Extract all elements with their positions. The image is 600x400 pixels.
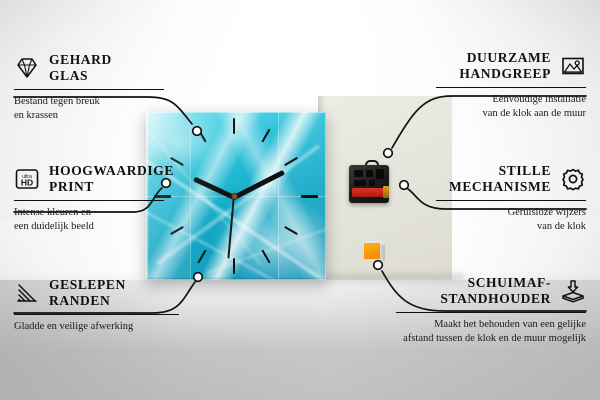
- svg-text:HD: HD: [21, 177, 33, 187]
- feature-title: STILLEMECHANISME: [449, 163, 551, 195]
- feature-header: SCHUIMAF-STANDHOUDER: [396, 275, 586, 307]
- feature-header: STILLEMECHANISME: [436, 163, 586, 195]
- feature-header: ultra HD HOOGWAARDIGEPRINT: [14, 163, 164, 195]
- feature-title: GESLEPENRANDEN: [49, 277, 126, 309]
- ultra-hd-icon: ultra HD: [14, 167, 40, 191]
- feature-divider: [14, 200, 164, 201]
- feature-description: Maakt het behouden van een gelijke afsta…: [396, 318, 586, 346]
- leader-dot-gehard-glas: [193, 127, 202, 136]
- feature-divider: [14, 314, 179, 315]
- feature-divider: [436, 87, 586, 88]
- feature-geslepen-randen[interactable]: GESLEPENRANDEN Gladde en veilige afwerki…: [14, 277, 179, 334]
- leader-dot-geslepen-randen: [194, 273, 203, 282]
- feature-divider: [14, 89, 164, 90]
- infographic-canvas: GEHARDGLAS Bestand tegen breuk en krasse…: [0, 0, 600, 400]
- picture-frame-icon: [560, 54, 586, 78]
- feature-duurzame-handgreep[interactable]: DUURZAMEHANDGREEP Eenvoudige installatie…: [436, 50, 586, 121]
- feature-title: SCHUIMAF-STANDHOUDER: [440, 275, 551, 307]
- feature-description: Intense kleuren en een duidelijk beeld: [14, 206, 164, 234]
- feature-description: Eenvoudige installatie van de klok aan d…: [436, 93, 586, 121]
- feature-header: DUURZAMEHANDGREEP: [436, 50, 586, 82]
- leader-dot-duurzame-handgreep: [384, 149, 393, 158]
- gear-icon: [560, 167, 586, 191]
- feature-title: HOOGWAARDIGEPRINT: [49, 163, 174, 195]
- feature-header: GESLEPENRANDEN: [14, 277, 179, 309]
- leader-dot-stille-mechanisme: [400, 181, 409, 190]
- feature-divider: [436, 200, 586, 201]
- feature-divider: [396, 312, 586, 313]
- feature-description: Geruisloze wijzers van de klok: [436, 206, 586, 234]
- feature-description: Bestand tegen breuk en krassen: [14, 95, 164, 123]
- diamond-icon: [14, 56, 40, 80]
- foam-spacer-icon: [560, 279, 586, 303]
- feature-schuimafstandhouder[interactable]: SCHUIMAF-STANDHOUDER Maakt het behouden …: [396, 275, 586, 346]
- beveled-edges-icon: [14, 281, 40, 305]
- feature-title: GEHARDGLAS: [49, 52, 112, 84]
- feature-description: Gladde en veilige afwerking: [14, 320, 179, 334]
- leader-dot-schuimafstandhouder: [374, 261, 383, 270]
- feature-stille-mechanisme[interactable]: STILLEMECHANISME Geruisloze wijzers van …: [436, 163, 586, 234]
- feature-header: GEHARDGLAS: [14, 52, 164, 84]
- feature-hoogwaardige-print[interactable]: ultra HD HOOGWAARDIGEPRINT Intense kleur…: [14, 163, 164, 234]
- feature-title: DUURZAMEHANDGREEP: [459, 50, 551, 82]
- feature-gehard-glas[interactable]: GEHARDGLAS Bestand tegen breuk en krasse…: [14, 52, 164, 123]
